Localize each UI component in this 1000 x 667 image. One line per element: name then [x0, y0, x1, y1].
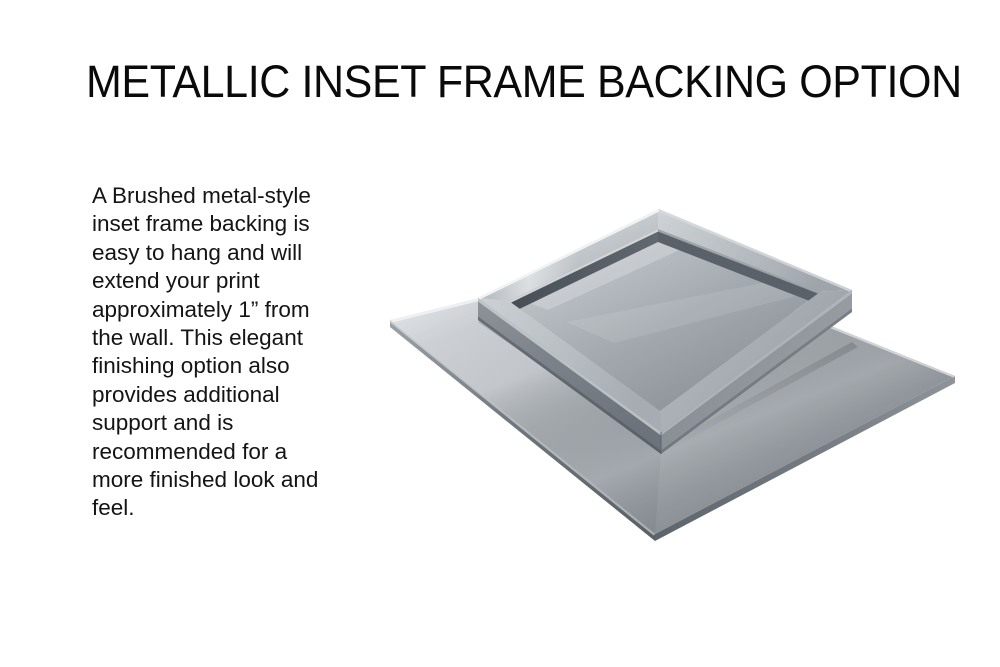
product-image-inset-frame-panel	[352, 196, 992, 596]
rail-front-corner-crease	[660, 432, 662, 454]
page-title: METALLIC INSET FRAME BACKING OPTION	[86, 58, 926, 106]
slide-canvas: METALLIC INSET FRAME BACKING OPTION A Br…	[0, 0, 1000, 667]
inset-frame-illustration	[352, 196, 992, 596]
description-paragraph: A Brushed metal-style inset frame backin…	[92, 182, 344, 523]
